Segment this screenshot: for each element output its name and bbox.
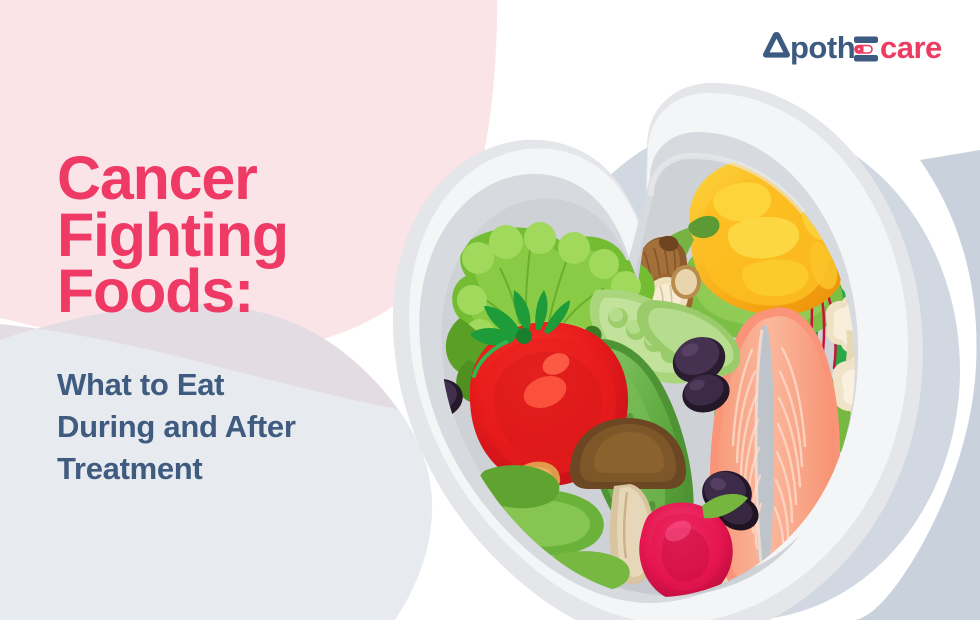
- logo-word-poth: poth: [790, 30, 855, 65]
- apothecare-logo-icon: poth care: [762, 24, 952, 68]
- logo-e-bottom-bar: [854, 55, 878, 62]
- banner-root: Cancer Fighting Foods: What to Eat Durin…: [0, 0, 980, 620]
- svg-text:care: care: [880, 30, 942, 65]
- hero-copy: Cancer Fighting Foods: What to Eat Durin…: [57, 150, 427, 490]
- logo-e-top-bar: [854, 37, 878, 44]
- apothecare-logo[interactable]: poth care: [762, 24, 952, 68]
- page-subtitle: What to Eat During and After Treatment: [57, 320, 427, 490]
- logo-letter-e-pill: [854, 37, 878, 62]
- logo-letter-a: [763, 32, 790, 58]
- page-title: Cancer Fighting Foods:: [57, 150, 427, 320]
- logo-word-care: care: [880, 30, 942, 65]
- svg-text:poth: poth: [790, 30, 855, 65]
- capsule-pill-icon: [855, 46, 872, 54]
